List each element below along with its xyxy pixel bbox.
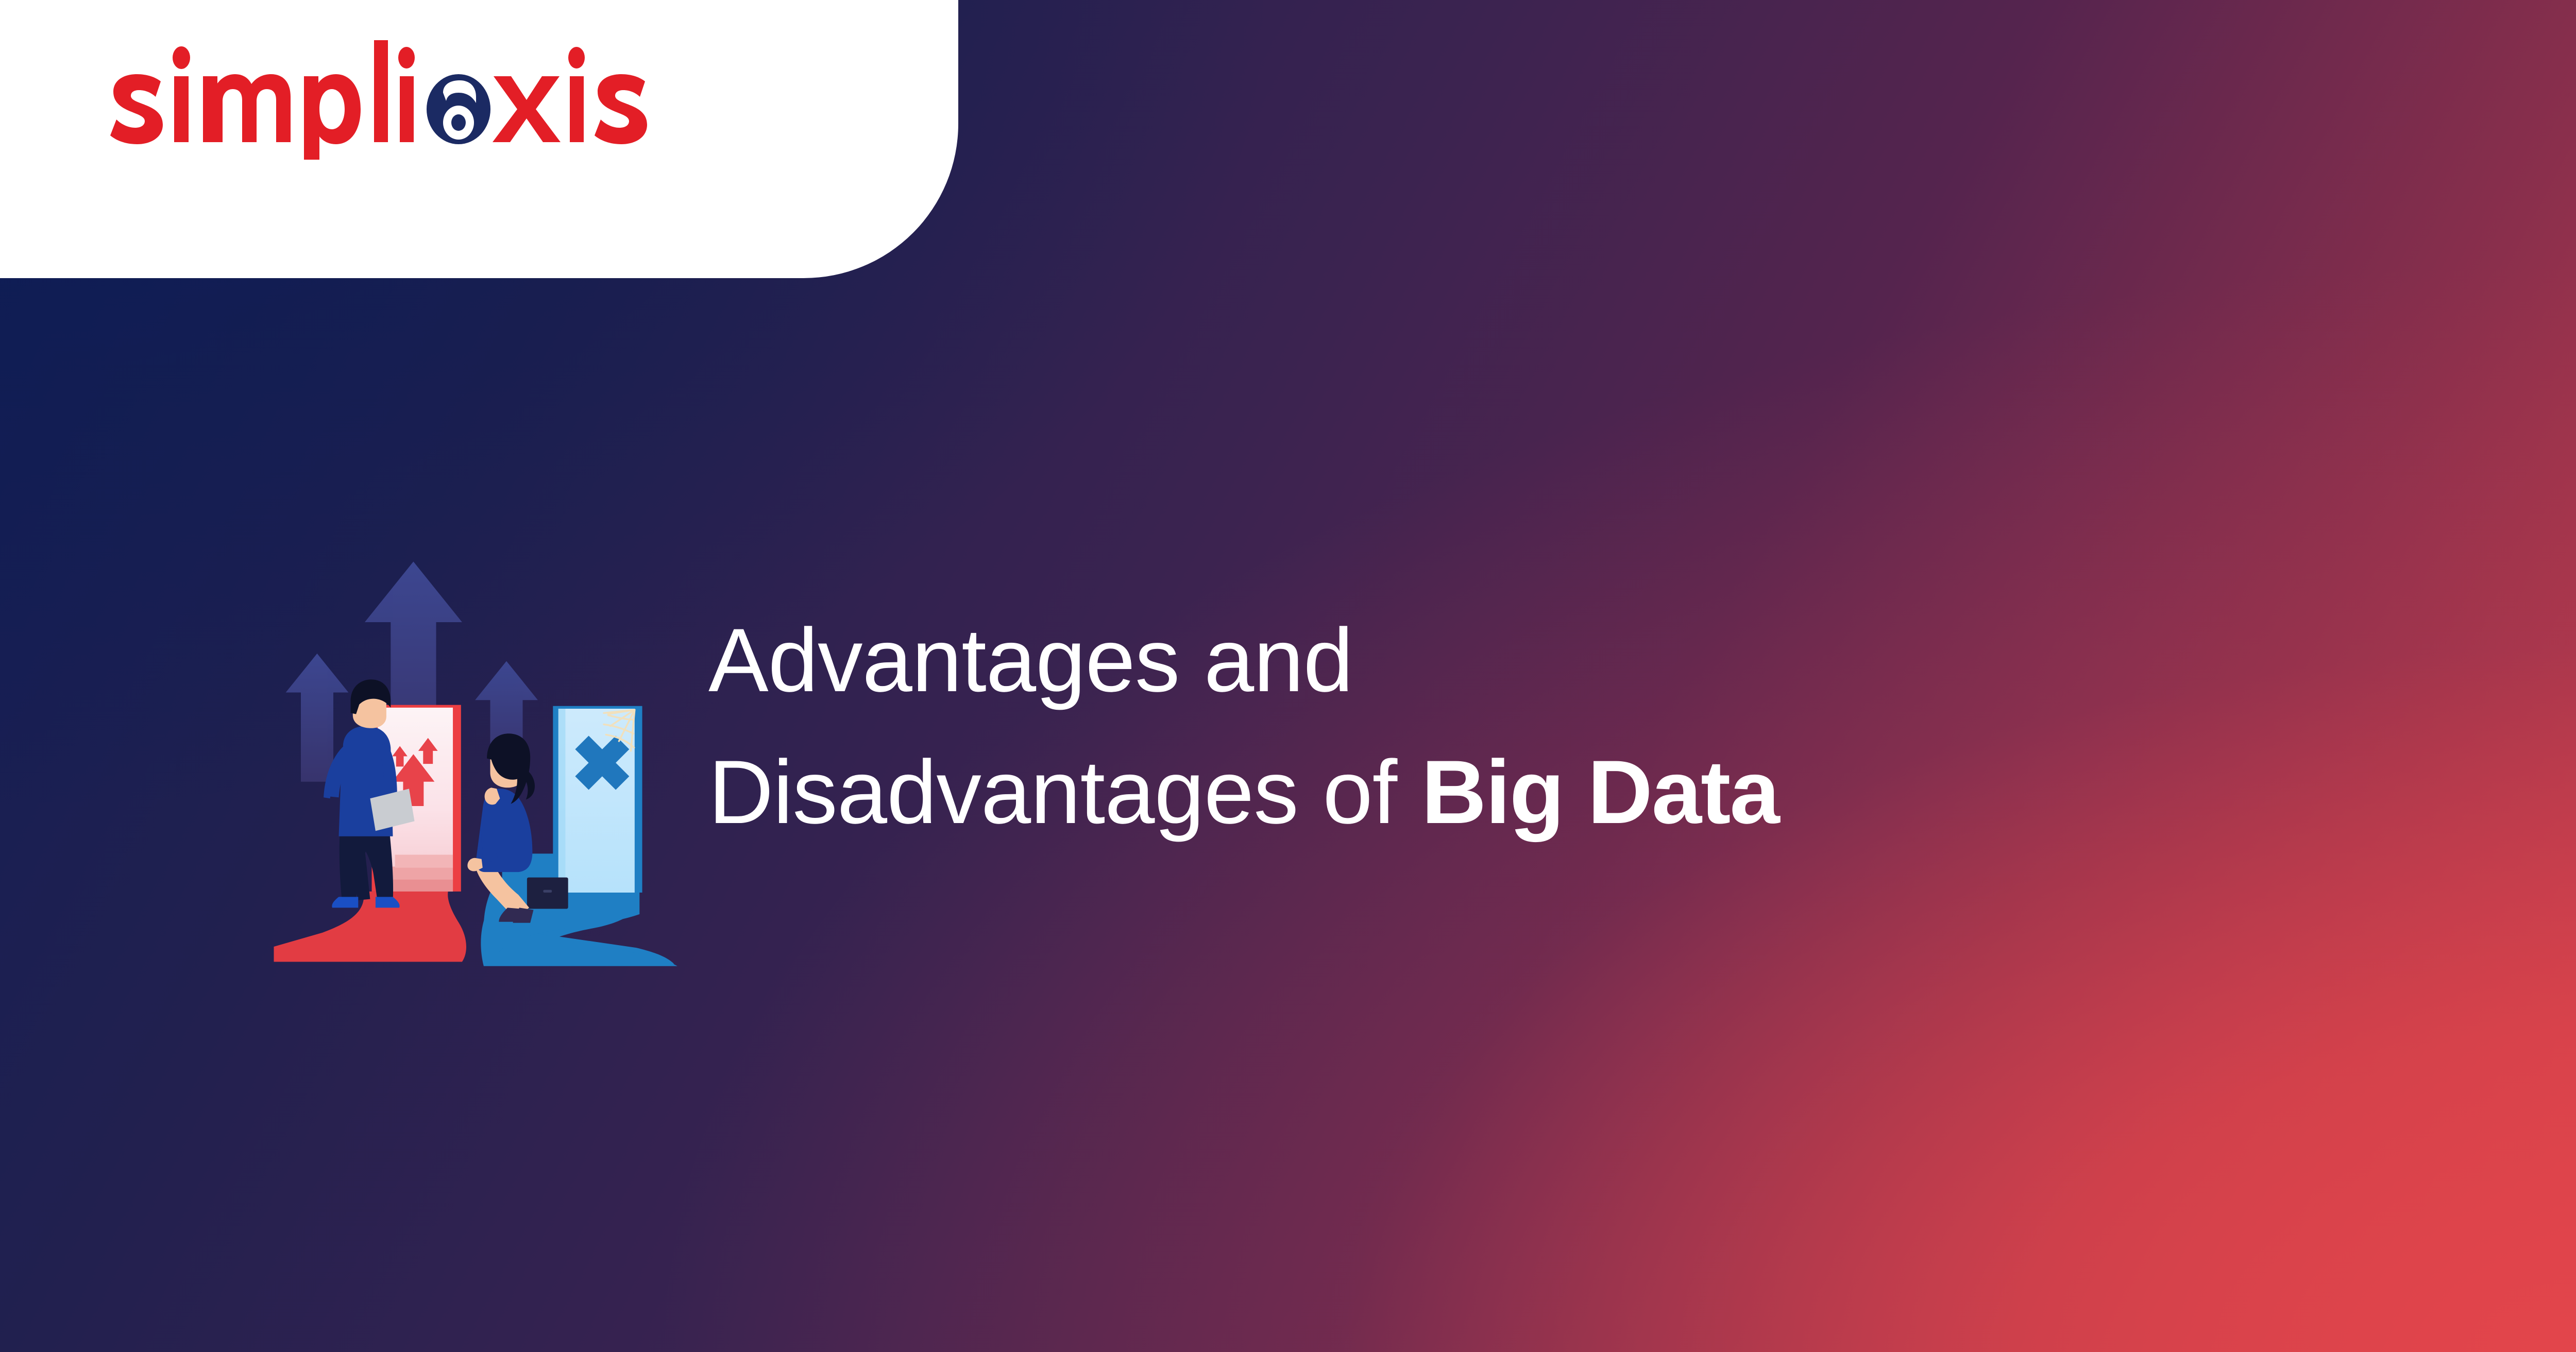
brand-logo[interactable] bbox=[82, 31, 773, 160]
man-shoe-left bbox=[332, 897, 358, 908]
page-title: Advantages and Disadvantages of Big Data bbox=[708, 595, 2501, 858]
briefcase bbox=[527, 878, 568, 909]
stairs bbox=[385, 855, 453, 892]
title-line-2-bold: Big Data bbox=[1421, 742, 1779, 843]
title-line-2: Disadvantages of Big Data bbox=[708, 727, 2501, 859]
logo-a-eye bbox=[427, 74, 490, 144]
title-line-2-regular: Disadvantages of bbox=[708, 742, 1421, 843]
banner-root: Advantages and Disadvantages of Big Data bbox=[0, 0, 2576, 1352]
door-failure bbox=[553, 706, 642, 893]
logo-glyphs bbox=[110, 40, 647, 160]
title-line-1: Advantages and bbox=[708, 595, 2501, 727]
red-path bbox=[274, 892, 467, 962]
illustration-two-doors bbox=[258, 536, 690, 968]
